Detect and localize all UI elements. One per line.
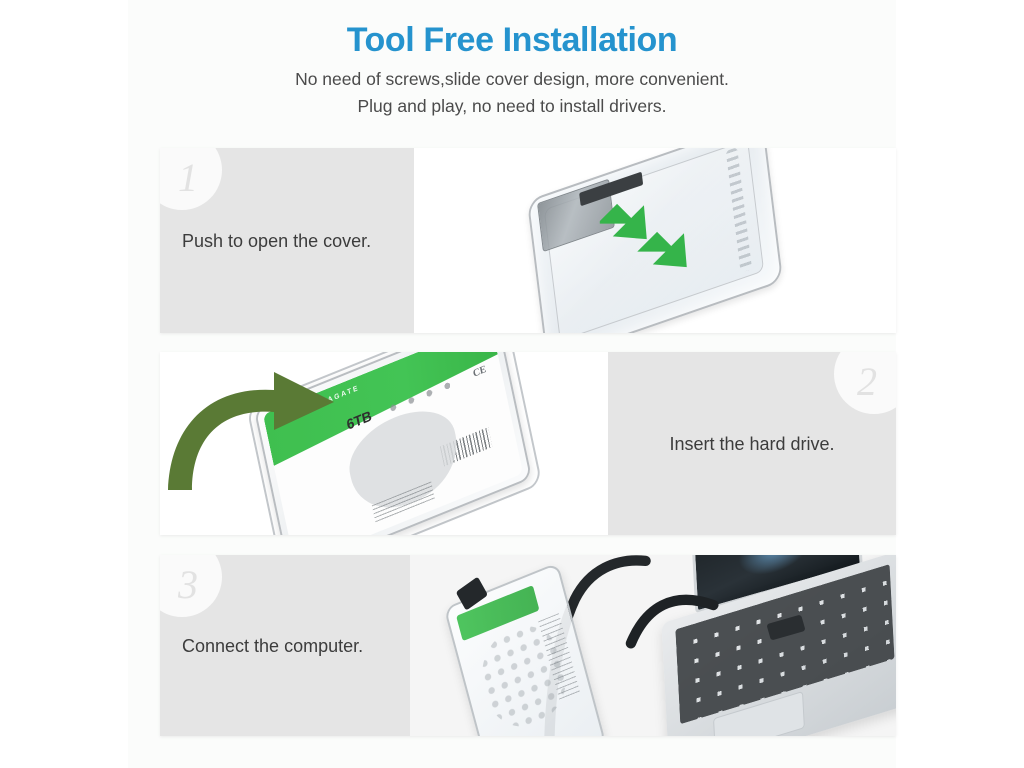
green-arrow-icon xyxy=(600,194,720,284)
push-direction-arrows xyxy=(600,194,720,284)
step-card-2: SEAGATE 6TB CE xyxy=(160,352,896,535)
step-2-image-pane: SEAGATE 6TB CE xyxy=(160,352,608,535)
header-block: Tool Free Installation No need of screws… xyxy=(128,18,896,120)
step-3-number-badge: 3 xyxy=(160,555,222,617)
step-1-text-pane: 1 Push to open the cover. xyxy=(160,148,414,333)
step-2-caption: Insert the hard drive. xyxy=(608,431,896,457)
curved-green-arrow-icon xyxy=(166,368,341,493)
step-3-number: 3 xyxy=(178,565,198,605)
step-1-image-pane xyxy=(414,148,896,333)
page-title: Tool Free Installation xyxy=(128,18,896,62)
step-2-text-pane: 2 Insert the hard drive. xyxy=(608,352,896,535)
step-1-photo xyxy=(414,148,896,333)
subtitle-line-1: No need of screws,slide cover design, mo… xyxy=(128,66,896,93)
step-card-1: 1 Push to open the cover. xyxy=(160,148,896,333)
step-1-number-badge: 1 xyxy=(160,148,222,210)
step-3-photo xyxy=(410,555,896,736)
step-2-photo: SEAGATE 6TB CE xyxy=(160,352,608,535)
step-1-caption: Push to open the cover. xyxy=(160,228,414,254)
subtitle-line-2: Plug and play, no need to install driver… xyxy=(128,93,896,120)
step-3-text-pane: 3 Connect the computer. xyxy=(160,555,410,736)
step-3-image-pane xyxy=(410,555,896,736)
page-subtitle: No need of screws,slide cover design, mo… xyxy=(128,66,896,120)
step-3-caption: Connect the computer. xyxy=(160,633,410,659)
infographic-page: Tool Free Installation No need of screws… xyxy=(0,0,1024,768)
step-card-3: 3 Connect the computer. xyxy=(160,555,896,736)
step-1-number: 1 xyxy=(178,158,198,198)
step-2-number: 2 xyxy=(857,362,877,402)
step-2-number-badge: 2 xyxy=(834,352,896,414)
insert-direction-arrow xyxy=(166,368,341,493)
